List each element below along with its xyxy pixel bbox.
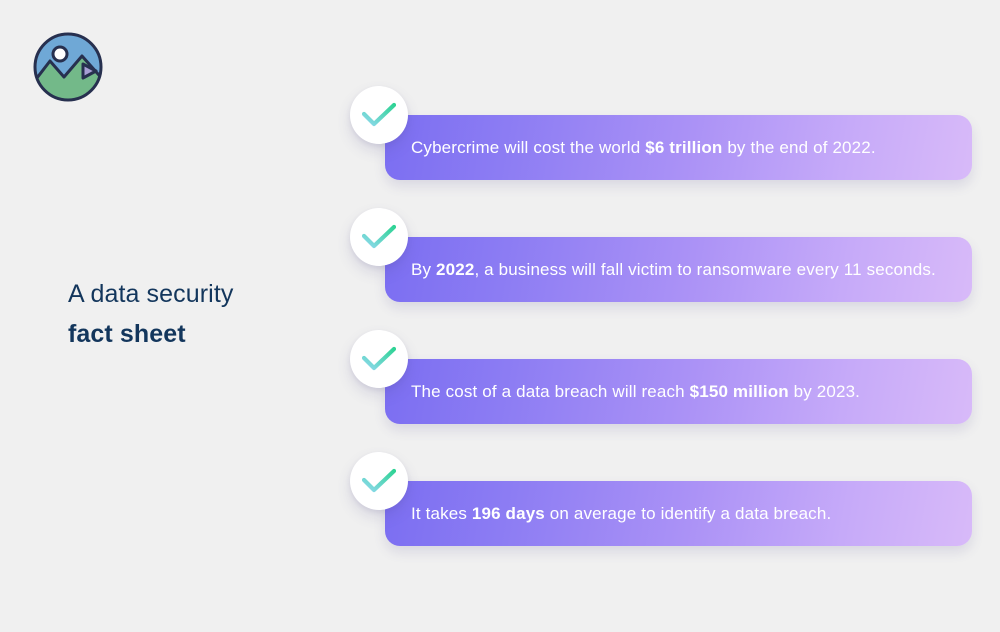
fact-bar: By 2022, a business will fall victim to …: [385, 237, 972, 302]
fact-text: It takes 196 days on average to identify…: [411, 503, 831, 525]
fact-item: Cybercrime will cost the world $6 trilli…: [350, 86, 972, 208]
fact-item: By 2022, a business will fall victim to …: [350, 208, 972, 330]
check-icon: [350, 86, 408, 144]
fact-item: It takes 196 days on average to identify…: [350, 452, 972, 574]
fact-bar: The cost of a data breach will reach $15…: [385, 359, 972, 424]
fact-text-before: It takes: [411, 504, 472, 523]
slide-canvas: A data security fact sheet Cybercrime wi…: [0, 0, 1000, 632]
fact-text-before: By: [411, 260, 436, 279]
fact-text-after: by 2023.: [789, 382, 860, 401]
check-icon-glyph: [362, 468, 396, 494]
fact-text: The cost of a data breach will reach $15…: [411, 381, 860, 403]
fact-text: Cybercrime will cost the world $6 trilli…: [411, 137, 876, 159]
fact-bar: Cybercrime will cost the world $6 trilli…: [385, 115, 972, 180]
fact-bar: It takes 196 days on average to identify…: [385, 481, 972, 546]
fact-item: The cost of a data breach will reach $15…: [350, 330, 972, 452]
fact-text: By 2022, a business will fall victim to …: [411, 259, 936, 281]
check-icon-glyph: [362, 224, 396, 250]
fact-text-highlight: $6 trillion: [645, 138, 722, 157]
fact-text-highlight: 2022: [436, 260, 474, 279]
fact-text-after: , a business will fall victim to ransomw…: [474, 260, 935, 279]
fact-text-highlight: 196 days: [472, 504, 545, 523]
fact-text-after: on average to identify a data breach.: [545, 504, 831, 523]
fact-text-highlight: $150 million: [690, 382, 789, 401]
check-icon-glyph: [362, 102, 396, 128]
check-icon-glyph: [362, 346, 396, 372]
check-icon: [350, 452, 408, 510]
fact-text-before: Cybercrime will cost the world: [411, 138, 645, 157]
fact-text-before: The cost of a data breach will reach: [411, 382, 690, 401]
fact-list: Cybercrime will cost the world $6 trilli…: [0, 0, 1000, 632]
fact-text-after: by the end of 2022.: [722, 138, 875, 157]
check-icon: [350, 208, 408, 266]
check-icon: [350, 330, 408, 388]
